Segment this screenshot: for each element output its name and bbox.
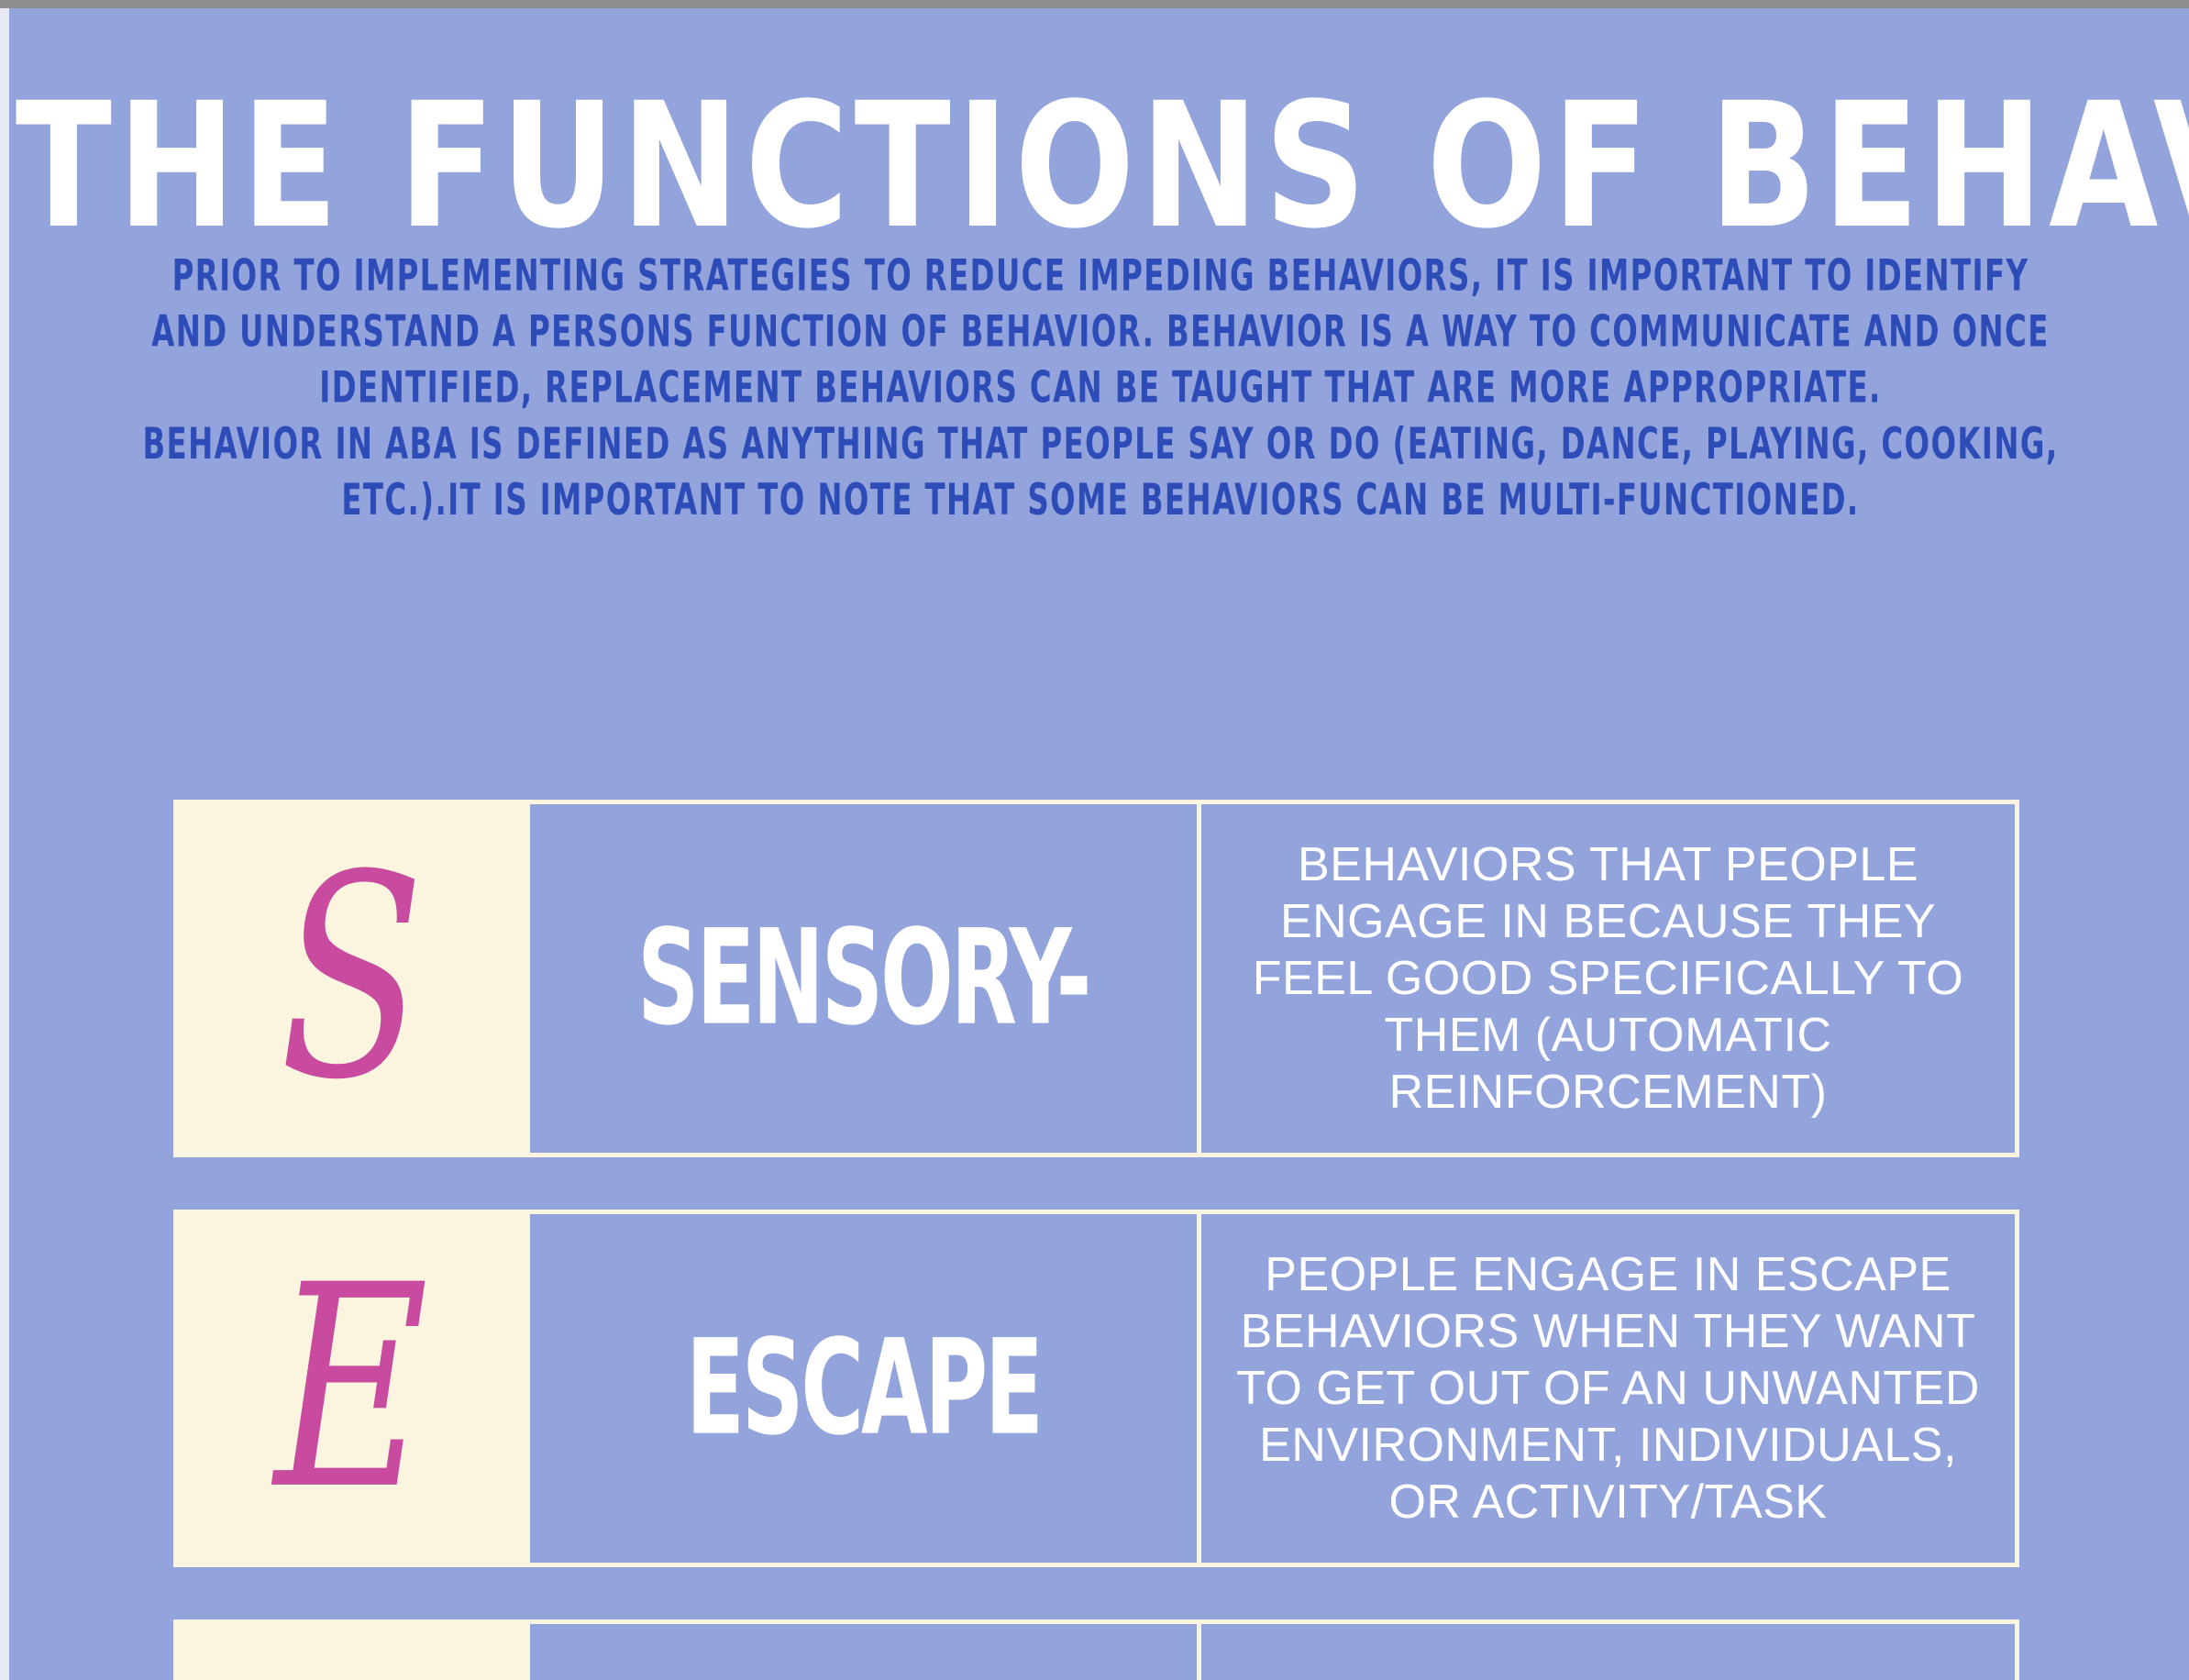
function-name-label: ESCAPE [686,1322,1041,1453]
intro-line-4: BEHAVIOR IN ABA IS DEFINED AS ANYTHING T… [64,416,2137,472]
table-row: INDIVIDUALS ENGAGE IN [173,1619,2019,1680]
function-name-cell: ESCAPE [530,1210,1197,1567]
intro-paragraph: PRIOR TO IMPLEMENTING STRATEGIES TO REDU… [64,249,2137,529]
table-row: S SENSORY- BEHAVIORS THAT PEOPLE ENGAGE … [173,800,2019,1157]
function-letter-glyph: S [280,839,425,1119]
page-title: THE FUNCTIONS OF BEHAVIOR [16,89,2185,243]
page-left-gutter [0,8,9,1680]
function-description-cell: PEOPLE ENGAGE IN ESCAPE BEHAVIORS WHEN T… [1197,1210,2019,1567]
function-name-label: SENSORY- [637,912,1089,1044]
function-name-cell: SENSORY- [530,800,1197,1157]
function-letter-glyph: E [275,1249,429,1529]
functions-table: S SENSORY- BEHAVIORS THAT PEOPLE ENGAGE … [173,800,2019,1680]
intro-line-5: ETC.).IT IS IMPORTANT TO NOTE THAT SOME … [64,472,2137,528]
intro-line-1: PRIOR TO IMPLEMENTING STRATEGIES TO REDU… [64,249,2137,304]
function-letter-cell: E [173,1210,530,1567]
function-description-text: BEHAVIORS THAT PEOPLE ENGAGE IN BECAUSE … [1222,836,1995,1121]
function-letter-cell [173,1619,530,1680]
table-row: E ESCAPE PEOPLE ENGAGE IN ESCAPE BEHAVIO… [173,1210,2019,1567]
function-description-cell: INDIVIDUALS ENGAGE IN [1197,1619,2019,1680]
function-description-cell: BEHAVIORS THAT PEOPLE ENGAGE IN BECAUSE … [1197,800,2019,1157]
intro-line-2: AND UNDERSTAND A PERSONS FUNCTION OF BEH… [64,304,2137,360]
poster-canvas: THE FUNCTIONS OF BEHAVIOR PRIOR TO IMPLE… [9,8,2189,1680]
browser-chrome-bar [0,0,2189,8]
intro-line-3: IDENTIFIED, REPLACEMENT BEHAVIORS CAN BE… [64,360,2137,416]
function-name-cell [530,1619,1197,1680]
function-letter-cell: S [173,800,530,1157]
function-description-text: PEOPLE ENGAGE IN ESCAPE BEHAVIORS WHEN T… [1222,1246,1995,1531]
